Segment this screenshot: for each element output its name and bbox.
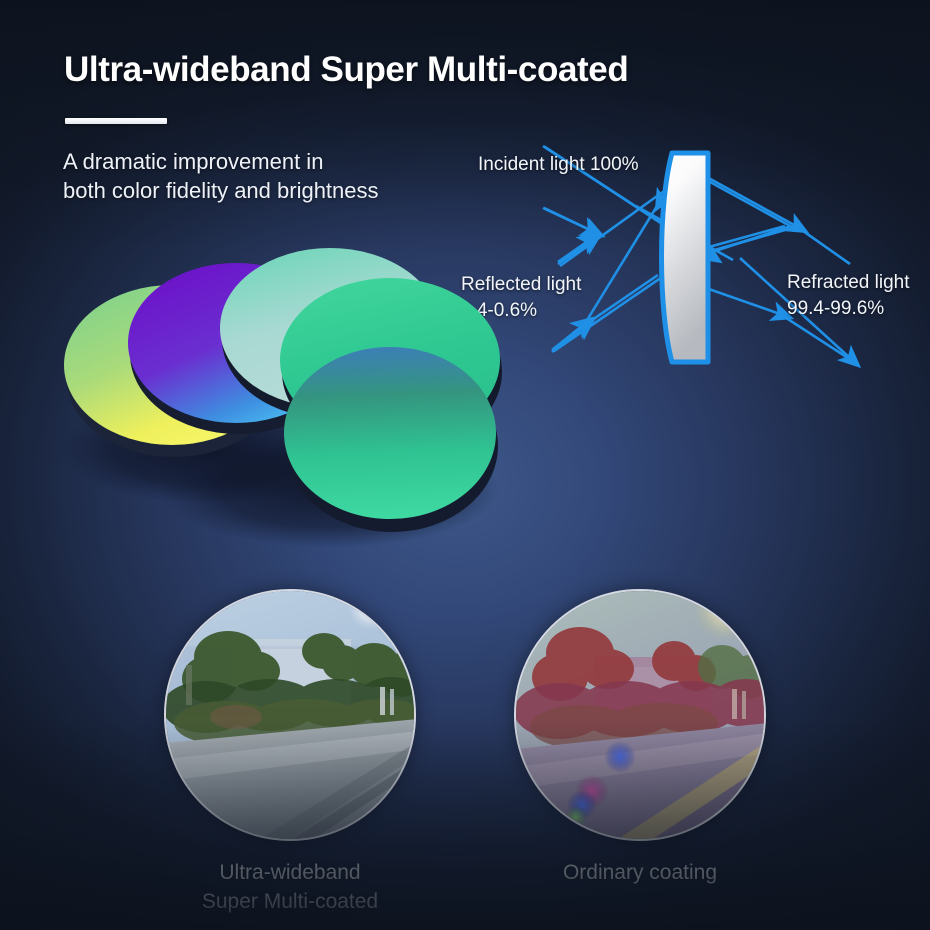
title-divider-rule [65,118,167,124]
coated-lens-discs [40,240,540,560]
lens-element [662,153,709,362]
ordinary-coating-sample-photo [514,589,766,841]
lens-flare-blue [604,741,636,773]
ray-refract-1b [796,226,850,264]
ray-reflect-1 [560,186,671,266]
reflected-ray-a-head [558,241,588,262]
page-subtitle: A dramatic improvement in both color fid… [63,147,379,205]
ray-reflect-head-1 [558,242,590,264]
page-title: Ultra-wideband Super Multi-coated [64,50,628,90]
infographic-poster: Ultra-wideband Super Multi-coated A dram… [0,0,930,930]
left-photo-caption: Ultra-wideband Super Multi-coated [100,858,480,916]
right-photo-caption: Ordinary coating [470,858,810,887]
incident-light-label: Incident light 100% [478,152,639,178]
refracted-light-label: Refracted light 99.4-99.6% [787,270,910,322]
ray-incident-2 [543,208,592,231]
disc-green-teal-front [284,347,498,532]
coated-lens-sample-photo [164,589,416,841]
reflected-ray-lower [573,275,658,333]
reflected-ray-upper [581,188,668,330]
